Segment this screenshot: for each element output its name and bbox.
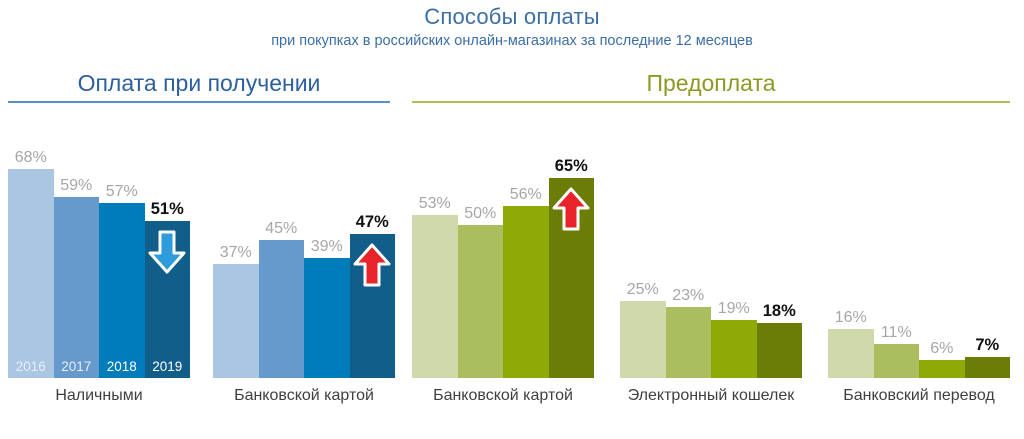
bar-value-label: 23%: [672, 287, 704, 305]
bar-2017[interactable]: [259, 240, 305, 378]
bar-value-label: 45%: [265, 220, 297, 238]
bar-group-1: 201668%201759%201857%201951%: [8, 118, 190, 378]
bar-value-label: 65%: [555, 157, 588, 176]
bar-year-label: 2016: [8, 359, 54, 374]
category-label: Наличными: [8, 386, 190, 439]
bar-column[interactable]: 201668%: [8, 118, 54, 378]
bar-2018[interactable]: 2018: [99, 203, 145, 378]
bar-2019[interactable]: [757, 323, 803, 378]
bar-column[interactable]: 11%: [874, 118, 920, 378]
bar-value-label: 51%: [151, 200, 184, 219]
bar-value-label: 50%: [464, 205, 496, 223]
bar-group-5: 16%11%6%7%: [828, 118, 1010, 378]
bar-value-label: 25%: [627, 281, 659, 299]
bar-column[interactable]: 19%: [711, 118, 757, 378]
bar-column[interactable]: 16%: [828, 118, 874, 378]
category-label: Электронный кошелек: [620, 386, 802, 439]
bar-value-label: 11%: [881, 324, 912, 342]
bar-value-label: 59%: [60, 177, 92, 195]
bar-2016[interactable]: 2016: [8, 169, 54, 378]
bar-2016[interactable]: [213, 264, 259, 378]
bar-2016[interactable]: [620, 301, 666, 378]
bar-column[interactable]: 201951%: [145, 118, 191, 378]
bar-2018[interactable]: [304, 258, 350, 378]
bar-column[interactable]: 53%: [412, 118, 458, 378]
bar-value-label: 53%: [419, 195, 451, 213]
bar-2019[interactable]: [965, 357, 1011, 378]
bar-column[interactable]: 201759%: [54, 118, 100, 378]
bar-value-label: 68%: [15, 149, 47, 167]
bar-group-bars: 53%50%56%65%: [412, 118, 594, 378]
bar-2018[interactable]: [503, 206, 549, 378]
bar-group-bars: 25%23%19%18%: [620, 118, 802, 378]
bar-group-bars: 201668%201759%201857%201951%: [8, 118, 190, 378]
category-label: Банковский перевод: [828, 386, 1010, 439]
bar-2017[interactable]: [666, 307, 712, 378]
bar-year-label: 2019: [145, 359, 191, 374]
bar-column[interactable]: 56%: [503, 118, 549, 378]
bar-group-2: 37%45%39%47%: [213, 118, 395, 378]
bar-2019[interactable]: [350, 234, 396, 378]
bar-column[interactable]: 23%: [666, 118, 712, 378]
bar-group-3: 53%50%56%65%: [412, 118, 594, 378]
arrow-down-icon: [146, 229, 188, 275]
bar-column[interactable]: 50%: [458, 118, 504, 378]
bar-2019[interactable]: 2019: [145, 221, 191, 378]
bar-column[interactable]: 6%: [919, 118, 965, 378]
arrow-up-icon: [550, 186, 592, 232]
bar-2016[interactable]: [412, 215, 458, 378]
infographic-root: Способы оплаты при покупках в российских…: [0, 0, 1024, 439]
bar-value-label: 47%: [356, 213, 389, 232]
bar-2017[interactable]: [874, 344, 920, 378]
arrow-up-icon: [351, 242, 393, 288]
bar-chart-plot: 201668%201759%201857%201951%Наличными37%…: [0, 0, 1024, 439]
bar-2017[interactable]: 2017: [54, 197, 100, 378]
bar-column[interactable]: 45%: [259, 118, 305, 378]
bar-column[interactable]: 25%: [620, 118, 666, 378]
bar-2016[interactable]: [828, 329, 874, 378]
bar-year-label: 2017: [54, 359, 100, 374]
bar-value-label: 19%: [718, 300, 750, 318]
category-label: Банковской картой: [412, 386, 594, 439]
bar-value-label: 6%: [930, 340, 953, 358]
bar-2017[interactable]: [458, 225, 504, 379]
bar-2018[interactable]: [919, 360, 965, 378]
bar-value-label: 18%: [763, 302, 796, 321]
bar-2019[interactable]: [549, 178, 595, 378]
bar-group-bars: 37%45%39%47%: [213, 118, 395, 378]
bar-column[interactable]: 37%: [213, 118, 259, 378]
bar-2018[interactable]: [711, 320, 757, 378]
bar-column[interactable]: 65%: [549, 118, 595, 378]
bar-value-label: 39%: [311, 238, 343, 256]
bar-year-label: 2018: [99, 359, 145, 374]
bar-value-label: 16%: [835, 309, 867, 327]
bar-value-label: 7%: [975, 336, 999, 355]
bar-value-label: 56%: [510, 186, 542, 204]
bar-group-bars: 16%11%6%7%: [828, 118, 1010, 378]
bar-column[interactable]: 39%: [304, 118, 350, 378]
bar-value-label: 37%: [220, 244, 252, 262]
bar-column[interactable]: 47%: [350, 118, 396, 378]
bar-column[interactable]: 7%: [965, 118, 1011, 378]
bar-column[interactable]: 201857%: [99, 118, 145, 378]
bar-column[interactable]: 18%: [757, 118, 803, 378]
bar-group-4: 25%23%19%18%: [620, 118, 802, 378]
bar-value-label: 57%: [106, 183, 138, 201]
category-label: Банковской картой: [213, 386, 395, 439]
